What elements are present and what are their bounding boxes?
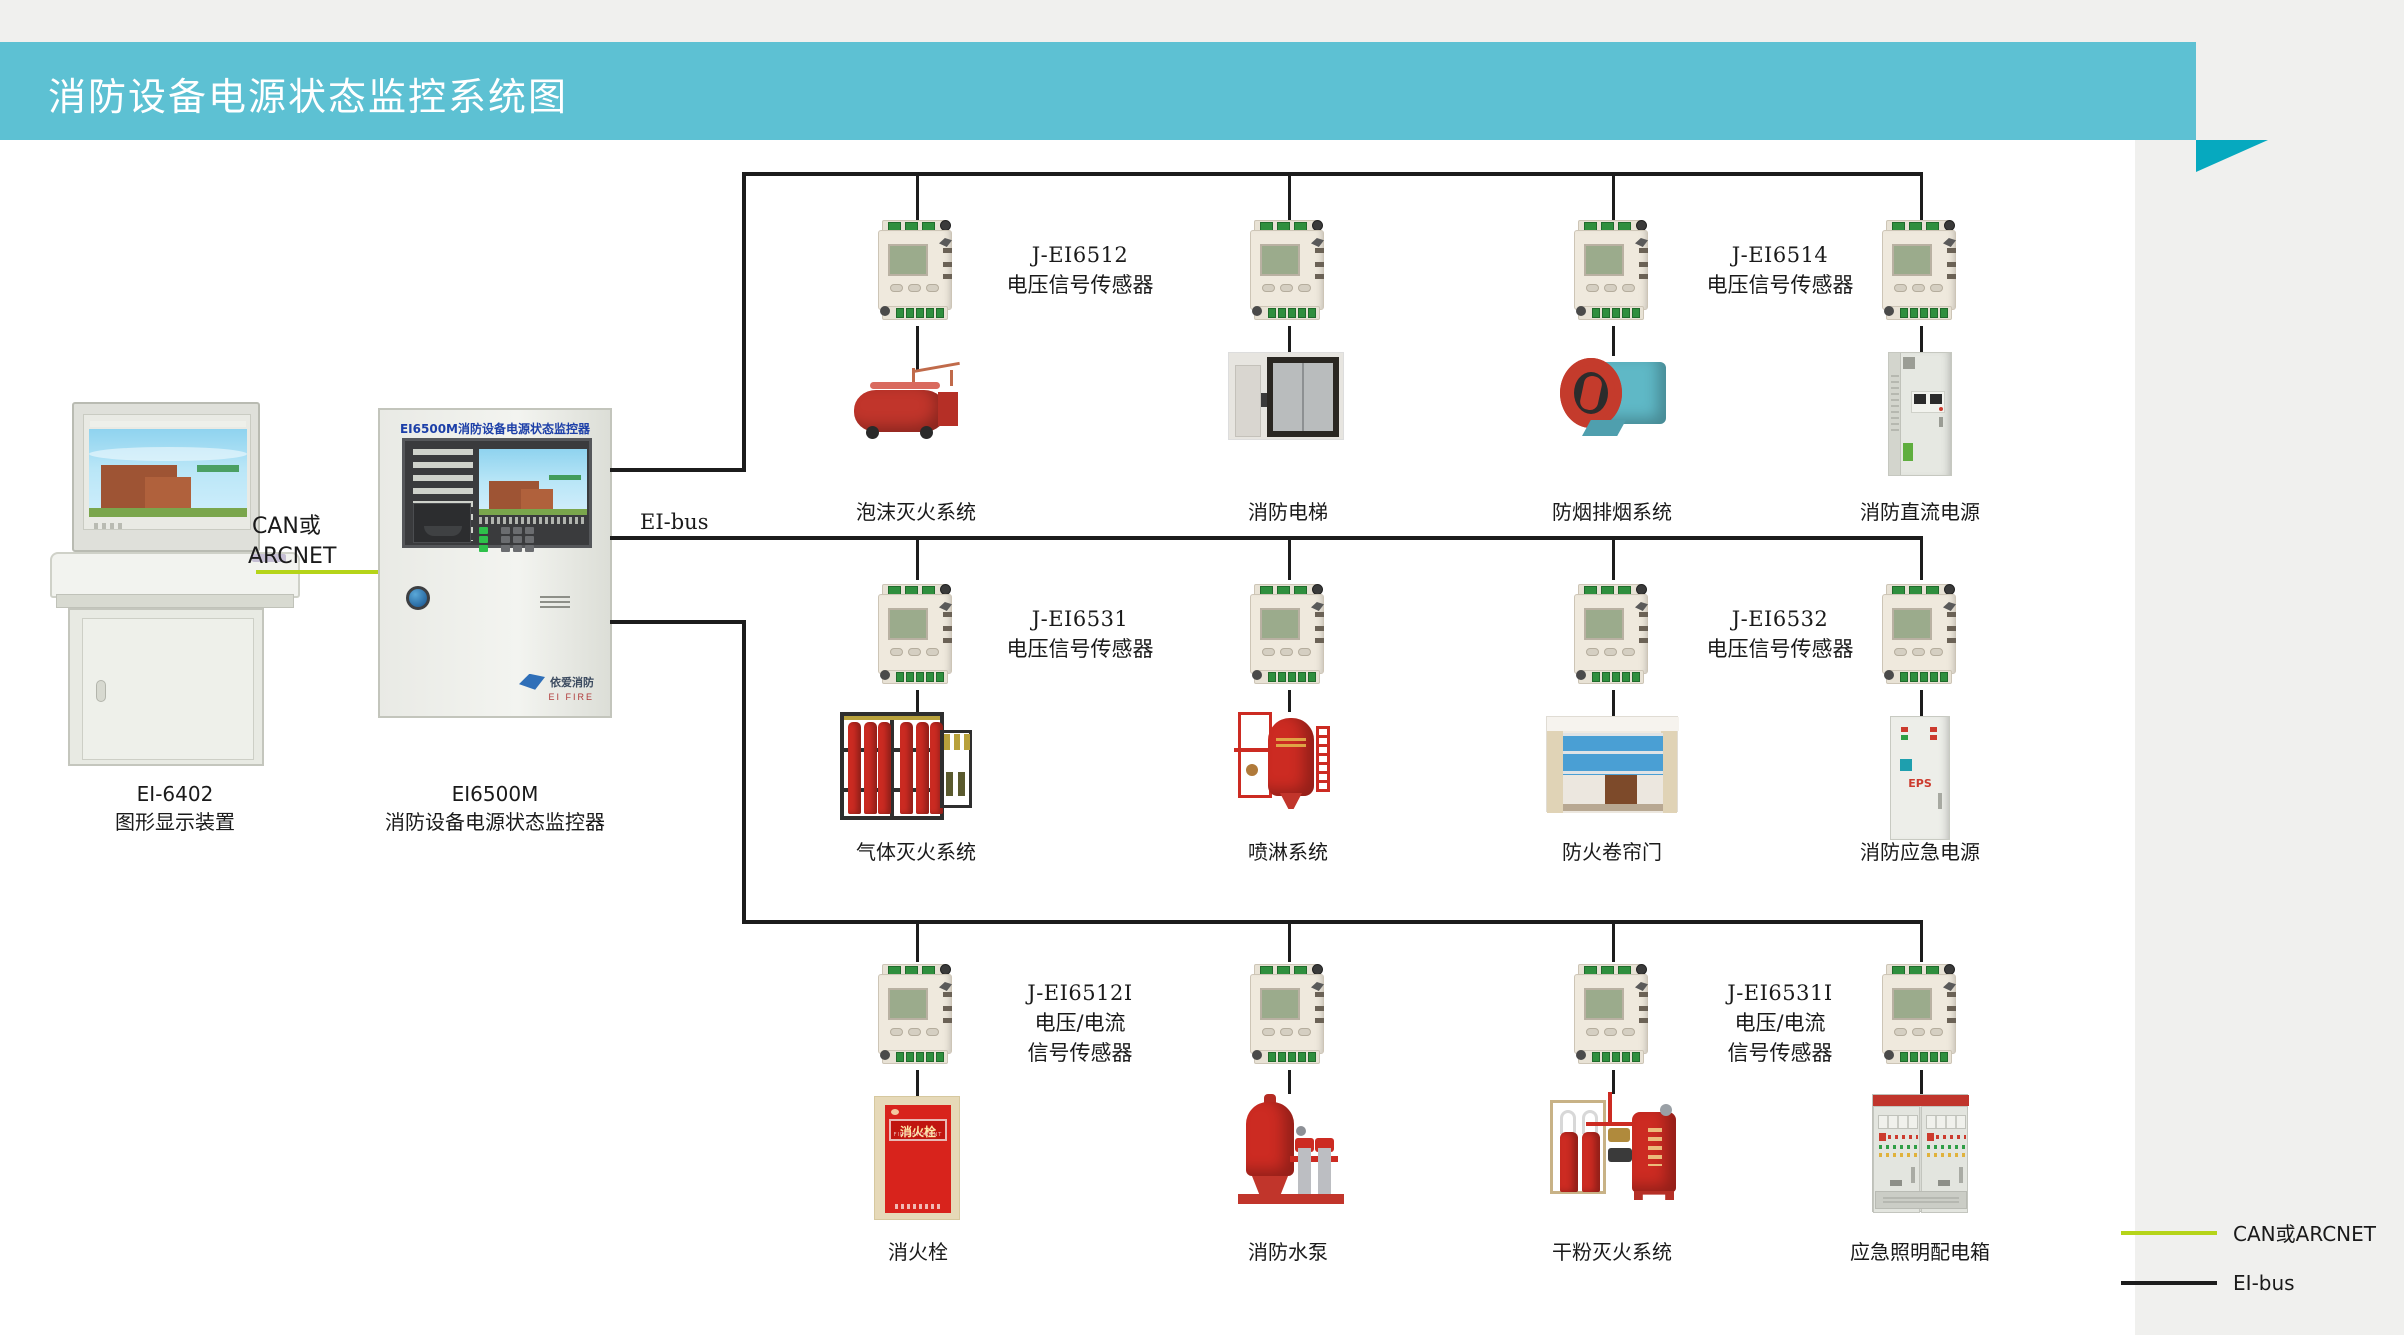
system-diagram-page: 消防设备电源状态监控系统图 EI-6402 图形显示装置 [0,0,2404,1335]
bus-row1-horizontal [742,172,1922,176]
power-status-monitor-panel[interactable]: EI6500M消防设备电源状态监控器 [378,408,612,718]
console-lock-icon[interactable] [96,680,106,702]
sensor-desc-r2-left: 电压信号传感器 [1007,637,1154,661]
bus-drop-r2c2 [1288,536,1291,580]
device-caption-r3c4: 应急照明配电箱 [1830,1238,2010,1266]
device-caption-r2c1: 气体灭火系统 [826,838,1006,866]
screen-cloud-icon [89,447,247,461]
panel-keypad[interactable] [479,527,587,549]
device-gas-extinguishing-system [840,712,980,826]
panel-power-knob[interactable] [406,586,430,610]
bus-trunk-bottom-v [742,620,746,924]
device-fire-rolling-shutter [1546,716,1682,816]
legend-label-ei-bus: EI-bus [2233,1271,2295,1295]
monitor-name: EI6500M [378,780,612,808]
sensor-module-r3c2[interactable] [1244,958,1330,1070]
sensor-model-r2-right: J-EI6532 [1732,607,1829,631]
sensor-model-r3-left: J-EI6512I [1027,981,1132,1005]
bus-trunk-top-v [742,172,746,472]
console-monitor-bezel [83,414,251,530]
device-dry-powder-system [1550,1092,1680,1212]
device-caption-r3c2: 消防水泵 [1198,1238,1378,1266]
bus-drop-r2c1 [916,536,919,580]
device-fire-hydrant-cabinet: 消火栓 FIRE HYDRANT [874,1096,964,1224]
sensor-model-r1-left: J-EI6512 [1032,243,1129,267]
sensor-label-r2-right: J-EI6532 电压信号传感器 [1640,604,1920,664]
brand-logo-icon [519,674,545,690]
bus-row3-horizontal [742,920,1922,924]
screen-grass-icon [89,508,247,517]
panel-screen-slogan-icon [549,475,581,480]
device-drop-r3c2 [1288,1070,1291,1094]
device-drop-r1c4 [1920,326,1923,352]
panel-lcd-screen [479,449,587,515]
device-caption-r1c3: 防烟排烟系统 [1522,498,1702,526]
console-cabinet [68,608,264,766]
graphic-display-console[interactable] [50,402,300,772]
device-drop-r3c1 [916,1070,919,1096]
device-fire-pump [1236,1094,1352,1212]
panel-screen-grass-icon [479,509,587,515]
bus-trunk-bottom-h [610,620,746,624]
sensor-label-r3-right: J-EI6531I 电压/电流 信号传感器 [1640,978,1920,1068]
legend: CAN或ARCNET EI-bus [2121,1218,2376,1319]
device-caption-r2c3: 防火卷帘门 [1522,838,1702,866]
bus-drop-r3c3 [1612,920,1615,962]
console-cabinet-door[interactable] [82,618,254,760]
console-desc: 图形显示装置 [50,808,300,836]
device-drop-r1c3 [1612,326,1615,356]
device-caption-r2c2: 喷淋系统 [1198,838,1378,866]
console-monitor [72,402,260,552]
device-drop-r1c2 [1288,326,1291,352]
legend-item-ei-bus: EI-bus [2121,1271,2376,1295]
diagram-canvas [0,140,2135,1335]
hydrant-plate-label-en: FIRE HYDRANT [891,1132,945,1138]
printer-paper-slot-icon [424,526,462,536]
legend-line-ei-bus-icon [2121,1281,2217,1285]
can-arcnet-wire [256,570,378,574]
sensor-desc-r3-left-2: 信号传感器 [1028,1041,1133,1065]
page-title: 消防设备电源状态监控系统图 [48,66,568,121]
console-desk-lip [56,594,294,608]
console-screen [89,429,247,517]
sensor-desc-r1-right: 电压信号传感器 [1707,273,1854,297]
device-caption-r2c4: 消防应急电源 [1830,838,2010,866]
device-drop-r2c3 [1612,690,1615,716]
device-caption-r1c4: 消防直流电源 [1830,498,2010,526]
bus-drop-r3c4 [1920,920,1923,962]
panel-screen-building2-icon [521,489,553,511]
brand-name-cn: 依爱消防 [550,674,594,690]
bus-drop-r1c1 [916,172,919,220]
legend-item-can-arcnet: CAN或ARCNET [2121,1218,2376,1247]
sensor-desc-r3-right-1: 电压/电流 [1734,1011,1825,1035]
sensor-label-r1-right: J-EI6514 电压信号传感器 [1640,240,1920,300]
bus-drop-r1c4 [1920,172,1923,220]
legend-line-can-arcnet-icon [2121,1231,2217,1235]
panel-front-face [402,438,592,548]
sensor-module-r1c2[interactable] [1244,214,1330,326]
screen-building2-icon [145,477,191,511]
legend-label-can-arcnet: CAN或ARCNET [2233,1218,2376,1247]
header-ribbon-fold-icon [2196,140,2268,172]
console-button-row[interactable] [94,523,124,529]
console-name: EI-6402 [50,780,300,808]
device-fire-emergency-power-eps: EPS [1890,716,1954,844]
device-caption-r1c1: 泡沫灭火系统 [826,498,1006,526]
sensor-label-r2-left: J-EI6531 电压信号传感器 [940,604,1220,664]
device-dc-power-cabinet [1888,352,1958,480]
device-smoke-exhaust-fan [1552,356,1682,448]
sensor-label-r1-left: J-EI6512 电压信号传感器 [940,240,1220,300]
device-caption-r3c3: 干粉灭火系统 [1522,1238,1702,1266]
monitor-desc: 消防设备电源状态监控器 [358,808,632,836]
sensor-model-r3-right: J-EI6531I [1727,981,1832,1005]
device-foam-system [846,364,986,454]
can-link-label-line2: ARCNET [248,542,336,572]
device-drop-r3c3 [1612,1070,1615,1094]
bus-drop-r3c2 [1288,920,1291,962]
sensor-model-r1-right: J-EI6514 [1732,243,1829,267]
screen-slogan-icon [197,465,239,472]
device-caption-r3c1: 消火栓 [828,1238,1008,1266]
can-link-label-line1: CAN或 [252,512,321,542]
sensor-desc-r3-right-2: 信号传感器 [1728,1041,1833,1065]
brand-name-en: EI FIRE [519,692,594,702]
device-drop-r3c4 [1920,1070,1923,1094]
device-caption-r1c2: 消防电梯 [1198,498,1378,526]
bus-drop-r1c3 [1612,172,1615,220]
panel-brand: 依爱消防 EI FIRE [519,673,594,702]
ei-bus-label: EI-bus [640,510,708,534]
device-fire-elevator [1228,352,1348,444]
device-sprinkler-system [1232,708,1342,824]
device-drop-r2c4 [1920,690,1923,716]
console-brand-strip [90,421,246,427]
sensor-desc-r2-right: 电压信号传感器 [1707,637,1854,661]
panel-screen-caption-strip [479,517,587,524]
bus-drop-r2c4 [1920,536,1923,580]
panel-printer-slot[interactable] [413,503,471,543]
bus-drop-r1c2 [1288,172,1291,220]
sensor-desc-r1-left: 电压信号传感器 [1007,273,1154,297]
bus-drop-r3c1 [916,920,919,962]
panel-vent-icon [540,596,570,608]
bus-trunk-top-h [610,468,746,472]
sensor-desc-r3-left-1: 电压/电流 [1034,1011,1125,1035]
panel-title: EI6500M消防设备电源状态监控器 [380,420,610,437]
sensor-label-r3-left: J-EI6512I 电压/电流 信号传感器 [940,978,1220,1068]
sensor-model-r2-left: J-EI6531 [1032,607,1129,631]
eps-label: EPS [1891,777,1949,790]
bus-row2-horizontal [610,536,1922,540]
bus-drop-r2c3 [1612,536,1615,580]
sensor-module-r2c2[interactable] [1244,578,1330,690]
device-emergency-lighting-distribution-box [1872,1094,1972,1216]
